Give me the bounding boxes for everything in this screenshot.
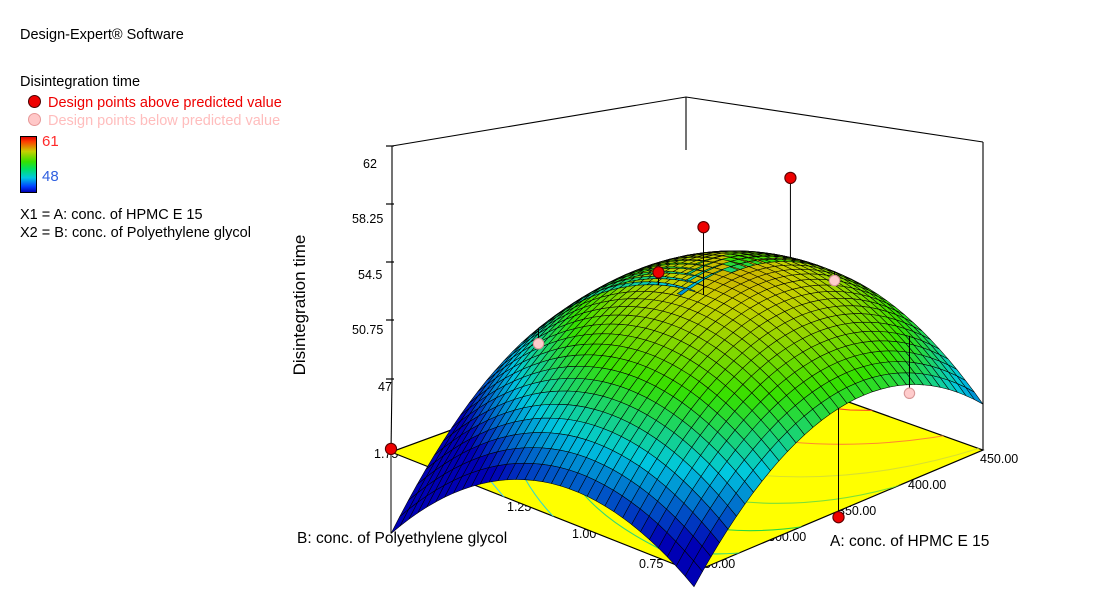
design-point-above[interactable] <box>385 443 396 454</box>
design-point-above[interactable] <box>698 222 709 233</box>
design-point-above[interactable] <box>833 512 844 523</box>
design-point-below[interactable] <box>829 275 839 285</box>
design-point-below[interactable] <box>533 338 543 348</box>
z-axis-ticks <box>386 146 394 379</box>
design-point-above[interactable] <box>653 267 664 278</box>
response-surface-plot <box>0 0 1101 616</box>
design-point-below[interactable] <box>904 388 914 398</box>
design-point-above[interactable] <box>785 172 796 183</box>
